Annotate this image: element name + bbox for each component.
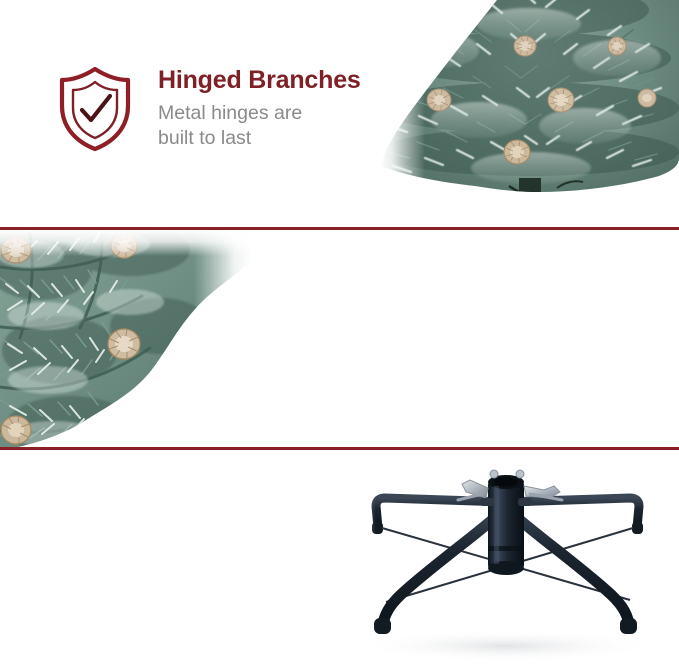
panel-subtitle: Metal hinges are built to last [158, 101, 361, 152]
feature-panel-sturdy-base: Sturdy Base A reliable metal stand for y… [0, 450, 679, 666]
photo-left-fade [330, 450, 376, 666]
photo-bottom-fade [379, 194, 679, 228]
metal-tree-stand-photo [330, 450, 679, 666]
feature-panel-pvc-tips: PVC Tips Flame-retardant and easy to flu… [0, 230, 679, 448]
frosted-christmas-tree-photo [379, 0, 679, 228]
subtitle-line-2: built to last [158, 127, 251, 149]
hinged-branches-text: Hinged Branches Metal hinges are built t… [158, 66, 361, 152]
subtitle-line-1: Metal hinges are [158, 102, 302, 124]
infographic-sheet: Hinged Branches Metal hinges are built t… [0, 0, 679, 666]
photo-right-fade [194, 230, 252, 448]
divider-2 [0, 447, 679, 450]
frosted-branch-closeup-photo [0, 230, 252, 448]
shield-check-icon [56, 62, 134, 159]
photo-top-fade [0, 230, 252, 256]
panel-heading: Hinged Branches [158, 66, 361, 95]
feature-panel-hinged-branches: Hinged Branches Metal hinges are built t… [0, 0, 679, 228]
divider-1 [0, 227, 679, 230]
